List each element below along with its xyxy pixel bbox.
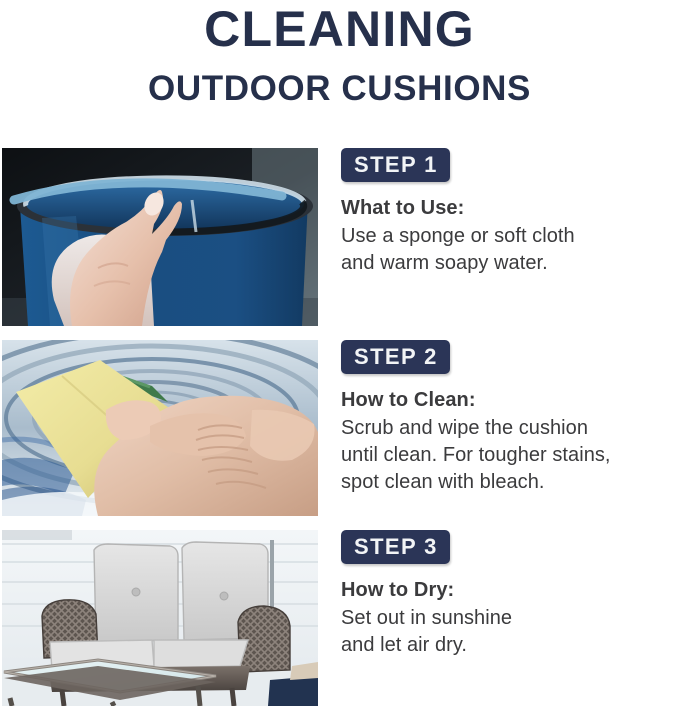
step-1-badge: STEP 1 — [341, 148, 450, 182]
step-3-badge: STEP 3 — [341, 530, 450, 564]
step-2-heading: How to Clean: — [341, 387, 679, 413]
hand-with-cloth-on-blue-bucket-photo — [2, 148, 318, 326]
loveseat-illustration — [2, 530, 318, 706]
page-title: CLEANING — [0, 1, 679, 57]
step-1-heading: What to Use: — [341, 195, 679, 221]
step-2-badge: STEP 2 — [341, 340, 450, 374]
step-2-content: STEP 2 How to Clean: Scrub and wipe the … — [341, 340, 679, 496]
step-3-line-1: Set out in sunshine — [341, 605, 679, 632]
sponge-illustration — [2, 340, 318, 516]
page-subtitle: OUTDOOR CUSHIONS — [0, 69, 679, 109]
hand-with-yellow-sponge-over-water-photo — [2, 340, 318, 516]
infographic-root: CLEANING OUTDOOR CUSHIONS — [0, 0, 679, 706]
bucket-illustration — [2, 148, 318, 326]
step-1-content: STEP 1 What to Use: Use a sponge or soft… — [341, 148, 679, 277]
step-3-heading: How to Dry: — [341, 577, 679, 603]
step-row-3: STEP 3 How to Dry: Set out in sunshine a… — [0, 530, 679, 706]
header: CLEANING OUTDOOR CUSHIONS — [0, 0, 679, 140]
step-row-1: STEP 1 What to Use: Use a sponge or soft… — [0, 148, 679, 326]
step-3-content: STEP 3 How to Dry: Set out in sunshine a… — [341, 530, 679, 659]
step-2-line-2: until clean. For tougher stains, — [341, 442, 679, 469]
wicker-loveseat-with-gray-cushions-photo — [2, 530, 318, 706]
step-1-line-2: and warm soapy water. — [341, 250, 679, 277]
step-2-line-1: Scrub and wipe the cushion — [341, 415, 679, 442]
step-2-line-3: spot clean with bleach. — [341, 469, 679, 496]
step-3-line-2: and let air dry. — [341, 632, 679, 659]
step-row-2: STEP 2 How to Clean: Scrub and wipe the … — [0, 340, 679, 516]
step-1-line-1: Use a sponge or soft cloth — [341, 223, 679, 250]
